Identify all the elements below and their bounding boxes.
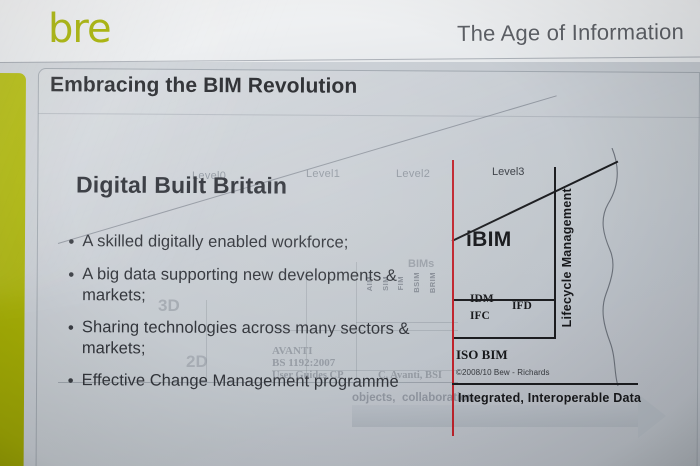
ifd-label: IFD (512, 300, 532, 312)
bullet-marker: • (68, 231, 82, 253)
bullet-marker: • (68, 370, 82, 392)
bullet-text: Effective Change Management programme (82, 370, 399, 393)
level1-label: Level1 (306, 168, 340, 180)
slide-photo: bre The Age of Information Embracing the… (0, 0, 700, 466)
ifc-label: IFC (470, 310, 490, 322)
idm-label: IDM (470, 293, 494, 305)
standards-box (452, 299, 556, 339)
ghost-brim-label: BRIM (428, 272, 437, 293)
level3-label: Level3 (492, 166, 524, 178)
torn-edge-wave (596, 148, 666, 388)
arrow-bold-text: Integrated, Interoperable Data (458, 391, 641, 405)
ibim-label: iBIM (466, 228, 512, 252)
list-item: • Sharing technologies across many secto… (68, 317, 418, 361)
bullet-text: A big data supporting new developments &… (82, 264, 418, 308)
iso-bim-label: ISO BIM (456, 347, 508, 363)
diagram-baseline (452, 383, 638, 385)
brand-accent-bar (0, 73, 26, 466)
list-item: • A big data supporting new developments… (68, 264, 418, 308)
lifecycle-management-axis-label: Lifecycle Management (560, 188, 574, 327)
progression-arrow-bar (352, 405, 642, 427)
list-item: • Effective Change Management programme (68, 370, 418, 394)
bre-logo: bre (48, 9, 111, 49)
slide-title: Embracing the BIM Revolution (50, 73, 357, 99)
bullet-text: A skilled digitally enabled workforce; (82, 231, 348, 254)
bullet-list: • A skilled digitally enabled workforce;… (68, 231, 419, 405)
progression-arrow-head (638, 394, 666, 438)
list-item: • A skilled digitally enabled workforce; (68, 231, 418, 255)
level2-label: Level2 (396, 168, 430, 180)
section-heading: Digital Built Britain (76, 171, 287, 199)
presentation-tagline: The Age of Information (457, 19, 684, 47)
level3-accent-line (452, 160, 454, 436)
bullet-marker: • (68, 264, 82, 306)
diagram-credit: ©2008/10 Bew - Richards (456, 368, 550, 377)
bullet-marker: • (68, 317, 82, 359)
bullet-text: Sharing technologies across many sectors… (82, 317, 418, 361)
